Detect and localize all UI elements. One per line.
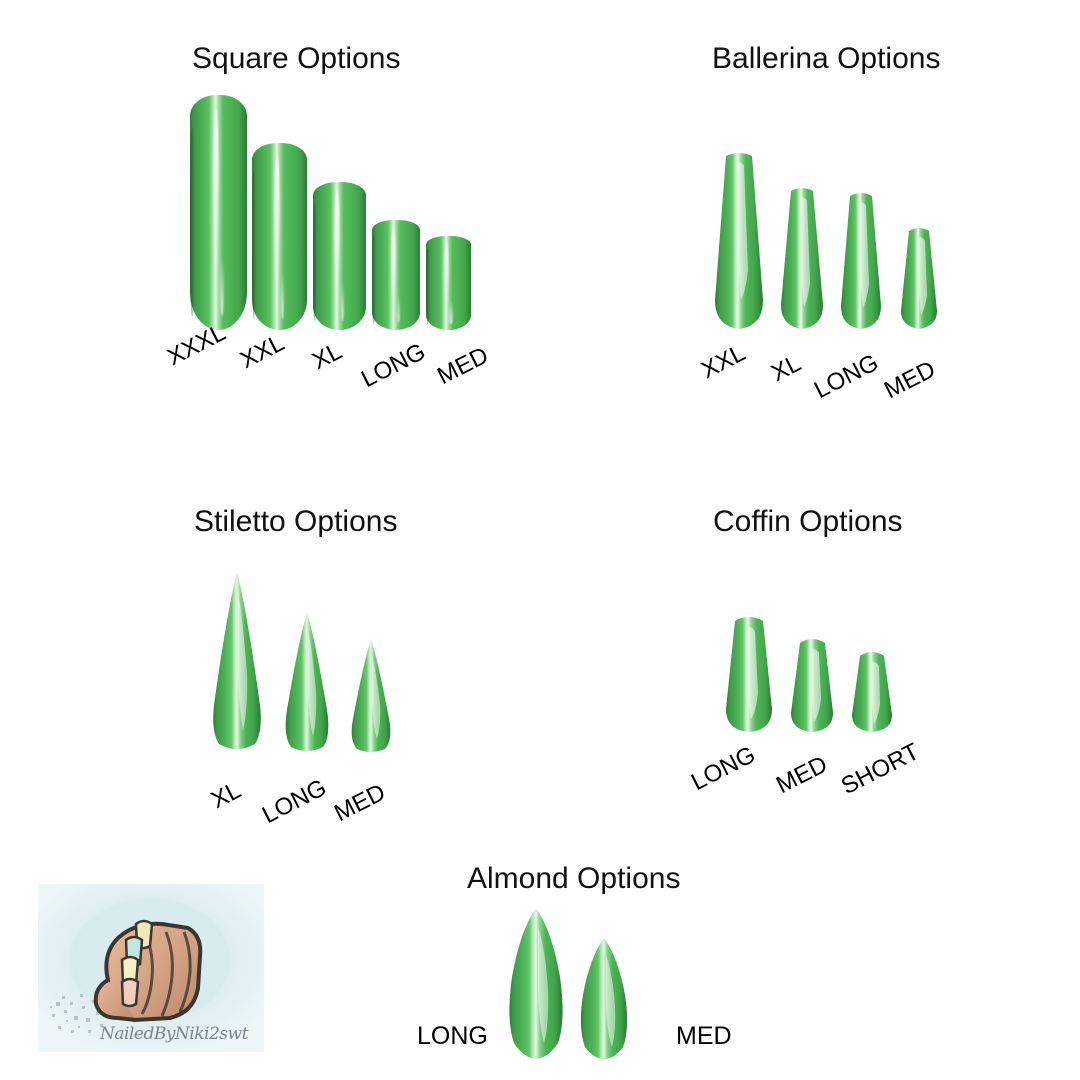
nail-ballerina-xl bbox=[774, 185, 830, 330]
nail-edge-shadow bbox=[313, 203, 317, 321]
nail-gloss-secondary bbox=[397, 295, 400, 324]
nail-square-long bbox=[372, 220, 420, 330]
nail-almond-med bbox=[572, 935, 636, 1060]
nail-gloss-secondary bbox=[281, 270, 285, 319]
section-title-stiletto: Stiletto Options bbox=[194, 505, 397, 539]
size-label-coffin-med: MED bbox=[772, 751, 832, 800]
nail-shape-svg bbox=[894, 225, 944, 330]
nail-group-coffin bbox=[718, 613, 918, 733]
section-title-square: Square Options bbox=[192, 42, 400, 76]
size-label-square-xl: XL bbox=[308, 338, 347, 376]
nail-stiletto-long bbox=[276, 610, 338, 755]
nail-coffin-med bbox=[784, 635, 841, 733]
nail-ballerina-long bbox=[834, 190, 888, 330]
nail-ballerina-xxl bbox=[708, 150, 770, 330]
nail-shape-svg bbox=[708, 150, 770, 330]
nail-shape-svg bbox=[774, 185, 830, 330]
size-label-coffin-short: SHORT bbox=[837, 738, 924, 801]
size-label-square-xxl: XXL bbox=[236, 329, 289, 375]
nail-shape-svg bbox=[718, 613, 780, 733]
nail-gloss-highlight bbox=[444, 242, 449, 310]
section-coffin: Coffin Options bbox=[540, 480, 1080, 840]
nail-gloss-secondary bbox=[449, 300, 452, 324]
nail-edge-shadow bbox=[190, 128, 195, 316]
nail-shape-svg bbox=[572, 935, 636, 1060]
size-label-square-long: LONG bbox=[357, 338, 430, 394]
section-title-coffin: Coffin Options bbox=[713, 505, 903, 539]
section-stiletto: Stiletto Options bbox=[0, 480, 540, 840]
nail-group-almond bbox=[500, 905, 660, 1060]
section-title-almond: Almond Options bbox=[467, 862, 680, 896]
nail-coffin-short bbox=[845, 648, 899, 733]
nail-shape-svg bbox=[500, 905, 572, 1060]
nail-gloss-highlight bbox=[391, 227, 396, 306]
nail-gloss-secondary bbox=[220, 255, 224, 316]
nail-stiletto-xl bbox=[203, 570, 271, 755]
nail-almond-long bbox=[500, 905, 572, 1060]
size-label-ballerina-xl: XL bbox=[767, 350, 806, 388]
nail-edge-shadow bbox=[252, 169, 256, 319]
nail-shape-svg bbox=[845, 648, 899, 733]
nail-shape-svg bbox=[834, 190, 888, 330]
nail-gloss-highlight bbox=[274, 154, 280, 289]
nail-ballerina-med bbox=[894, 225, 944, 330]
nail-square-med bbox=[426, 236, 471, 330]
nail-edge-shadow bbox=[372, 235, 376, 323]
nail-edge-shadow bbox=[426, 249, 430, 324]
section-square: Square Options bbox=[0, 0, 540, 480]
nail-stiletto-med bbox=[342, 637, 400, 755]
size-label-square-med: MED bbox=[433, 342, 493, 391]
size-label-almond-long: LONG bbox=[417, 1022, 488, 1051]
nail-shape-svg bbox=[203, 570, 271, 755]
section-title-ballerina: Ballerina Options bbox=[712, 42, 940, 76]
nail-gloss-secondary bbox=[341, 283, 345, 321]
nail-shape-svg bbox=[276, 610, 338, 755]
size-label-ballerina-xxl: XXL bbox=[697, 339, 750, 385]
nail-shape-svg bbox=[784, 635, 841, 733]
brand-logo: NailedByNiki2swt bbox=[38, 884, 264, 1052]
size-label-almond-med: MED bbox=[676, 1022, 732, 1051]
nail-group-ballerina bbox=[708, 150, 968, 330]
size-label-ballerina-long: LONG bbox=[810, 349, 883, 405]
nail-coffin-long bbox=[718, 613, 780, 733]
size-label-ballerina-med: MED bbox=[880, 356, 940, 405]
size-label-stiletto-long: LONG bbox=[258, 774, 331, 830]
nail-gloss-highlight bbox=[334, 191, 340, 298]
size-label-stiletto-xl: XL bbox=[207, 777, 246, 815]
size-label-coffin-long: LONG bbox=[687, 741, 760, 797]
nail-square-xxl bbox=[252, 143, 307, 330]
nail-gloss-highlight bbox=[213, 109, 219, 278]
poster-canvas: Square Options bbox=[0, 0, 1080, 1080]
nail-shape-svg bbox=[342, 637, 400, 755]
logo-brand-text: NailedByNiki2swt bbox=[100, 1024, 248, 1044]
size-label-stiletto-med: MED bbox=[330, 779, 390, 828]
nail-group-square bbox=[190, 95, 500, 330]
nail-square-xxxl bbox=[190, 95, 247, 330]
nail-group-stiletto bbox=[203, 570, 423, 755]
nail-square-xl bbox=[313, 182, 366, 330]
section-ballerina: Ballerina Options bbox=[540, 0, 1080, 480]
